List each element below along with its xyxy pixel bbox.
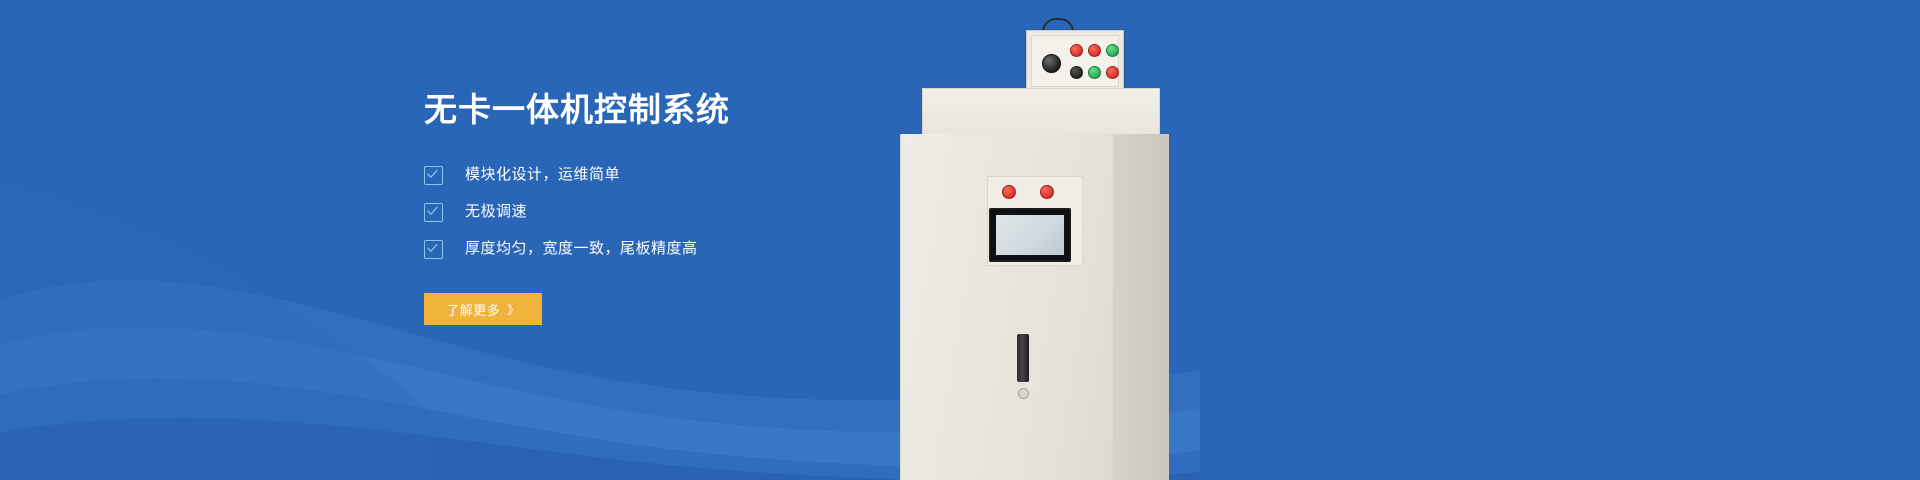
feature-list: 模块化设计，运维简单 无极调速 厚度均匀，宽度一致，尾板精度高 (424, 164, 944, 260)
panel-lamp-red-left (1002, 185, 1016, 199)
learn-more-label: 了解更多 (446, 300, 500, 319)
feature-label: 无极调速 (465, 201, 527, 223)
feature-label: 厚度均匀，宽度一致，尾板精度高 (465, 238, 698, 260)
feature-item-2: 无极调速 (424, 201, 944, 223)
cabinet-side-panel (1113, 134, 1169, 480)
operator-control-box (1026, 30, 1124, 92)
control-box-face (1031, 35, 1119, 87)
cabinet-top-riser (922, 88, 1160, 138)
hmi-touchscreen (989, 208, 1071, 262)
indicator-lamp-red-1 (1070, 44, 1083, 57)
banner-content: 无卡一体机控制系统 模块化设计，运维简单 无极调速 (424, 88, 944, 325)
banner-title: 无卡一体机控制系统 (424, 88, 944, 132)
cabinet-door (901, 134, 1114, 480)
hero-banner: 无卡一体机控制系统 模块化设计，运维简单 无极调速 (0, 0, 1920, 480)
learn-more-button[interactable]: 了解更多 》 (424, 293, 542, 325)
indicator-lamp-red-3 (1106, 66, 1119, 79)
door-lock-icon (1018, 388, 1029, 399)
indicator-lamp-green-1 (1106, 44, 1119, 57)
door-handle (1017, 334, 1029, 382)
checkbox-check-icon (424, 203, 443, 222)
checkbox-check-icon (424, 240, 443, 259)
electrical-cabinet (900, 134, 1169, 480)
indicator-lamp-green-2 (1088, 66, 1101, 79)
feature-item-3: 厚度均匀，宽度一致，尾板精度高 (424, 238, 944, 260)
feature-label: 模块化设计，运维简单 (465, 164, 620, 186)
hmi-screen-glass (996, 215, 1064, 255)
feature-item-1: 模块化设计，运维简单 (424, 164, 944, 186)
indicator-lamp-red-2 (1088, 44, 1101, 57)
checkbox-check-icon (424, 166, 443, 185)
indicator-lamp-black-1 (1070, 66, 1083, 79)
selector-knob-icon (1042, 54, 1061, 73)
panel-lamp-red-right (1040, 185, 1054, 199)
chevron-right-icon: 》 (507, 301, 520, 318)
control-cabinet-photo (900, 0, 1200, 480)
